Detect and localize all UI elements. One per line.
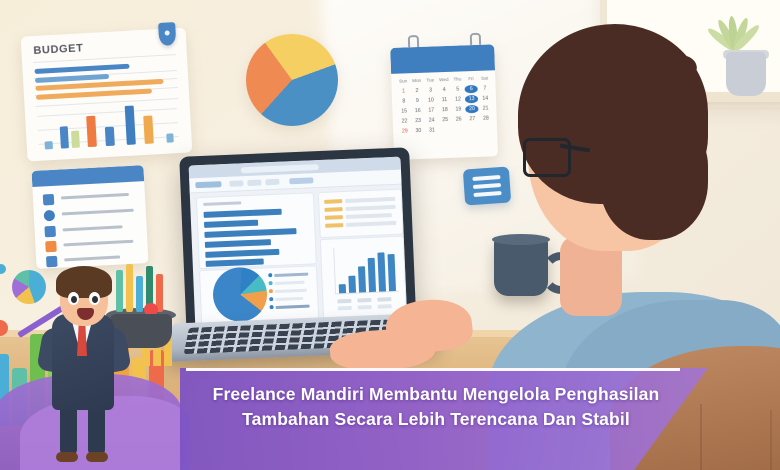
poster-title: BUDGET (33, 42, 84, 57)
calendar-day[interactable]: 8 (397, 97, 411, 105)
calendar-dow: Mon (410, 77, 424, 85)
dashboard-column-panel (320, 236, 407, 319)
toolbar-tab-active[interactable] (289, 177, 313, 184)
calendar-grid: Sun Mon Tue Wed Thu Fri Sat 1 2 3 4 5 6 … (396, 74, 493, 135)
mascot-hair (56, 266, 112, 298)
wall-checklist-card (32, 165, 149, 269)
calendar-day-highlighted[interactable]: 13 (465, 95, 479, 103)
calendar-day[interactable]: 30 (412, 127, 426, 135)
caption-rule (186, 368, 680, 371)
calendar-day-highlighted[interactable]: 6 (464, 85, 478, 93)
calendar-day[interactable]: 19 (452, 105, 466, 113)
caption-line-1: Freelance Mandiri Membantu Mengelola Pen… (186, 382, 686, 407)
plant-pot (726, 52, 766, 96)
calendar-day[interactable]: 23 (411, 117, 425, 125)
calendar-day[interactable]: 3 (424, 86, 438, 94)
dashboard-list-panel (318, 189, 404, 238)
potted-plant (712, 10, 780, 100)
calendar-day[interactable]: 27 (465, 115, 479, 123)
chair-seam (700, 404, 702, 470)
mascot-right-shoe (86, 452, 108, 462)
dashboard-bar-panel (196, 192, 317, 269)
calendar-day[interactable]: 18 (438, 106, 452, 114)
calendar-dow: Thu (450, 75, 464, 83)
calendar-day[interactable]: 25 (438, 116, 452, 124)
calendar-dow: Wed (437, 76, 451, 84)
person-hair-back (600, 120, 708, 240)
calendar-dow: Sat (478, 74, 492, 82)
chair-seam (770, 410, 772, 470)
caption-text: Freelance Mandiri Membantu Mengelola Pen… (186, 382, 686, 432)
caption-line-2: Tambahan Secara Lebih Terencana Dan Stab… (186, 407, 686, 432)
dashboard-pie-panel (199, 265, 319, 324)
calendar-day[interactable]: 28 (479, 114, 493, 122)
calendar-day[interactable]: 26 (452, 115, 466, 123)
calendar-day[interactable]: 9 (410, 97, 424, 105)
calendar-day[interactable]: 5 (451, 85, 465, 93)
calendar-day[interactable]: 17 (424, 106, 438, 114)
wall-calendar: Sun Mon Tue Wed Thu Fri Sat 1 2 3 4 5 6 … (390, 32, 504, 166)
illustration-canvas: BUDGET (0, 0, 780, 470)
budget-poster: BUDGET (21, 27, 193, 161)
calendar-day[interactable]: 16 (411, 107, 425, 115)
browser-url-bar[interactable] (241, 164, 319, 173)
laptop-screen-lid (179, 147, 417, 341)
laptop-display (189, 157, 408, 330)
calendar-day[interactable]: 15 (397, 107, 411, 115)
coffee-mug (494, 238, 548, 296)
calendar-day[interactable]: 31 (425, 126, 439, 134)
wall-pie-chart (246, 34, 338, 126)
calendar-dow: Tue (423, 76, 437, 84)
toolbar-button[interactable] (229, 180, 243, 187)
poster-bar-chart (37, 100, 179, 150)
calendar-day[interactable]: 22 (398, 117, 412, 125)
calendar-day-highlighted[interactable]: 20 (465, 105, 479, 113)
mug-rim (492, 234, 550, 245)
note-card-icon (463, 166, 511, 205)
dashboard-pie-chart (212, 266, 268, 322)
calendar-day[interactable]: 29 (398, 127, 412, 135)
toolbar-logo (195, 181, 221, 188)
mascot-pie-chart (12, 270, 46, 304)
calendar-day[interactable]: 11 (438, 96, 452, 104)
calendar-day[interactable]: 21 (479, 104, 493, 112)
calendar-day[interactable]: 7 (478, 84, 492, 92)
calendar-dow: Sun (396, 77, 410, 85)
calendar-day[interactable]: 14 (478, 94, 492, 102)
toolbar-button[interactable] (247, 179, 261, 186)
calendar-day[interactable]: 24 (425, 116, 439, 124)
calendar-day[interactable]: 1 (397, 87, 411, 95)
mascot-left-shoe (56, 452, 78, 462)
calendar-day[interactable]: 10 (424, 96, 438, 104)
mascot-scene (0, 256, 182, 470)
poster-pin-icon (158, 22, 176, 46)
toolbar-button[interactable] (265, 179, 279, 186)
calendar-day[interactable]: 12 (451, 95, 465, 103)
calendar-day[interactable]: 4 (437, 86, 451, 94)
calendar-day[interactable]: 2 (410, 87, 424, 95)
calendar-header (390, 44, 495, 74)
calendar-dow: Fri (464, 75, 478, 83)
